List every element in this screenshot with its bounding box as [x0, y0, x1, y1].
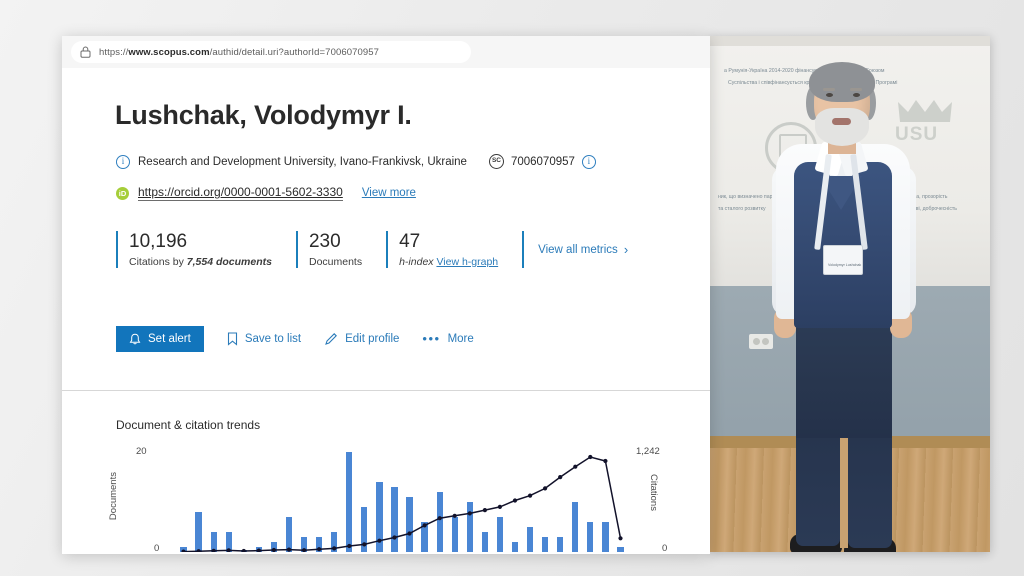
jeans — [796, 318, 892, 438]
citation-point-2009[interactable] — [392, 535, 396, 539]
affiliation-row: i Research and Development University, I… — [116, 154, 596, 169]
citation-point-2012[interactable] — [438, 516, 442, 520]
y-axis-title: Documents — [108, 472, 119, 520]
citation-point-2020[interactable] — [558, 475, 562, 479]
citation-point-2019[interactable] — [543, 486, 547, 490]
info-icon[interactable]: i — [116, 155, 130, 169]
orcid-icon: iD — [116, 187, 129, 200]
citation-point-2005[interactable] — [332, 546, 336, 550]
scopus-author-page: Lushchak, Volodymyr I. i Research and De… — [62, 68, 710, 554]
y2-axis-title: Citations — [648, 474, 659, 511]
metric-documents[interactable]: 230 Documents — [296, 231, 386, 268]
citation-point-1996[interactable] — [197, 549, 201, 552]
chevron-right-icon: › — [624, 242, 628, 257]
wall-socket — [749, 334, 773, 349]
citations-value: 10,196 — [129, 231, 272, 253]
bell-icon — [129, 333, 141, 346]
browser-omnibar: https://www.scopus.com/authid/detail.uri… — [62, 36, 710, 68]
set-alert-button[interactable]: Set alert — [116, 326, 204, 352]
metrics-strip: 10,196 Citations by 7,554 documents 230 … — [116, 231, 628, 268]
save-to-list-label: Save to list — [245, 333, 301, 345]
author-id-info-icon[interactable]: i — [582, 155, 596, 169]
citation-point-2000[interactable] — [257, 549, 261, 553]
citation-point-2013[interactable] — [453, 514, 457, 518]
address-bar[interactable]: https://www.scopus.com/authid/detail.uri… — [71, 41, 471, 63]
conference-badge: Volodymyr Lushchak — [823, 245, 863, 275]
more-dots-icon: ••• — [422, 335, 440, 343]
eye-left — [826, 93, 833, 97]
view-all-metrics-label: View all metrics — [538, 244, 618, 256]
y-axis-min-label: 0 — [154, 543, 159, 554]
citation-point-2001[interactable] — [272, 548, 276, 552]
hindex-value: 47 — [399, 231, 498, 253]
citation-point-2004[interactable] — [317, 547, 321, 551]
citation-point-2007[interactable] — [362, 542, 366, 546]
more-label: More — [448, 333, 474, 345]
citations-label-prefix: Citations by — [129, 256, 187, 268]
bookmark-icon — [227, 332, 238, 346]
citation-point-2006[interactable] — [347, 544, 351, 548]
edit-profile-label: Edit profile — [345, 333, 399, 345]
lock-icon — [80, 46, 91, 58]
usu-logo-text: USU — [895, 124, 938, 146]
citations-label-bold: 7,554 documents — [187, 256, 272, 268]
citation-point-2017[interactable] — [513, 498, 517, 502]
mouth — [832, 118, 851, 125]
orcid-row: iD https://orcid.org/0000-0001-5602-3330… — [116, 185, 416, 201]
documents-label: Documents — [309, 256, 362, 268]
documents-value: 230 — [309, 231, 362, 253]
section-divider — [62, 390, 710, 391]
citation-point-2023[interactable] — [603, 459, 607, 463]
usu-crown-icon — [896, 98, 954, 124]
eyebrow-right — [850, 88, 862, 91]
screen-top-edge — [710, 36, 990, 46]
eye-right — [853, 93, 860, 97]
page-title: Lushchak, Volodymyr I. — [115, 100, 412, 131]
citation-point-2014[interactable] — [468, 511, 472, 515]
affiliation-text: Research and Development University, Iva… — [138, 156, 467, 168]
document-citation-chart: 20 0 1,242 0 Documents Citations 1995 20… — [116, 442, 676, 554]
citation-point-2024[interactable] — [618, 536, 622, 540]
y-axis-max-label: 20 — [136, 446, 147, 457]
citation-point-2021[interactable] — [573, 465, 577, 469]
speaker-photo: а Румунія-Україна 2014-2020 фінансується… — [710, 36, 990, 552]
more-button[interactable]: ••• More — [422, 333, 473, 345]
citation-point-2003[interactable] — [302, 548, 306, 552]
view-more-link[interactable]: View more — [362, 187, 416, 199]
chart-title: Document & citation trends — [116, 418, 260, 432]
hair-top — [809, 62, 875, 102]
citation-point-1997[interactable] — [212, 549, 216, 552]
metric-hindex[interactable]: 47 h-index View h-graph — [386, 231, 522, 268]
scopus-badge-icon: SC — [489, 154, 504, 169]
slide-text-line-4: та сталого розвитку — [718, 206, 766, 212]
action-toolbar: Set alert Save to list Edit profile ••• … — [116, 326, 474, 352]
beard — [815, 108, 869, 146]
citation-point-2016[interactable] — [498, 505, 502, 509]
y2-axis-max-label: 1,242 — [636, 446, 660, 457]
citation-point-2008[interactable] — [377, 539, 381, 543]
citation-point-2010[interactable] — [407, 531, 411, 535]
hindex-label-prefix: h-index — [399, 256, 436, 268]
citation-point-2015[interactable] — [483, 508, 487, 512]
save-to-list-button[interactable]: Save to list — [227, 332, 301, 346]
metric-citations[interactable]: 10,196 Citations by 7,554 documents — [116, 231, 296, 268]
citation-point-2018[interactable] — [528, 494, 532, 498]
citation-point-1999[interactable] — [242, 549, 246, 552]
hindex-label: h-index View h-graph — [399, 256, 498, 268]
pencil-icon — [324, 332, 338, 346]
y2-axis-min-label: 0 — [662, 543, 667, 554]
citation-point-1995[interactable] — [181, 550, 185, 553]
citation-line-series — [176, 452, 628, 552]
url-text: https://www.scopus.com/authid/detail.uri… — [99, 47, 379, 58]
scopus-author-id: 7006070957 — [511, 156, 575, 168]
edit-profile-button[interactable]: Edit profile — [324, 332, 399, 346]
orcid-link[interactable]: https://orcid.org/0000-0001-5602-3330 — [138, 185, 343, 201]
eyebrow-left — [823, 88, 835, 91]
view-h-graph-link[interactable]: View h-graph — [436, 256, 498, 268]
citation-point-2002[interactable] — [287, 548, 291, 552]
set-alert-label: Set alert — [148, 333, 191, 345]
citations-label: Citations by 7,554 documents — [129, 256, 272, 268]
chart-plot-area — [176, 452, 628, 552]
view-all-metrics-button[interactable]: View all metrics › — [522, 231, 628, 268]
citation-point-2022[interactable] — [588, 455, 592, 459]
citation-point-1998[interactable] — [227, 548, 231, 552]
browser-window: https://www.scopus.com/authid/detail.uri… — [62, 36, 710, 554]
citation-point-2011[interactable] — [423, 523, 427, 527]
